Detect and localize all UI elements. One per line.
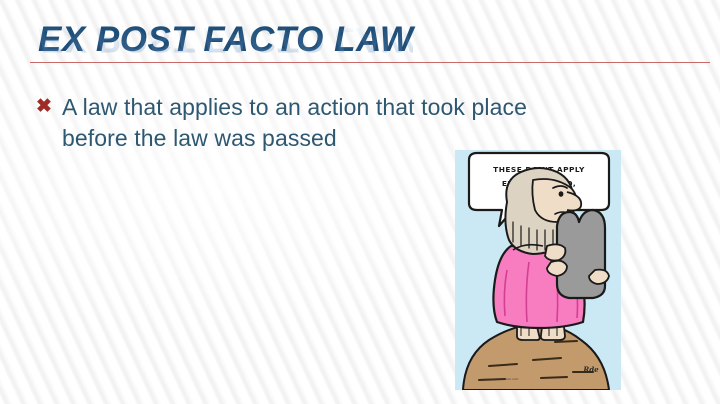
cartoon-image: THESE DON'T APPLY EX POST FACTO, DO THEY… [455,150,621,390]
bullet-text: A law that applies to an action that too… [62,92,676,154]
slide-title: EX POST FACTO LAW [38,20,698,60]
cross-bullet-icon: ✖ [36,92,62,122]
bullet-text-line1: A law that applies to an action that too… [62,94,527,120]
slide-body: ✖ A law that applies to an action that t… [36,92,676,154]
bullet-item: ✖ A law that applies to an action that t… [36,92,676,154]
slide-title-block: EX POST FACTO LAW EX POST FACTO LAW [38,20,698,68]
slide: EX POST FACTO LAW EX POST FACTO LAW ✖ A … [0,0,720,404]
cartoon-credit: www.cartoonstock.com [484,377,519,381]
title-divider-rule [30,62,710,63]
cartoonist-signature: Rde [582,365,599,374]
